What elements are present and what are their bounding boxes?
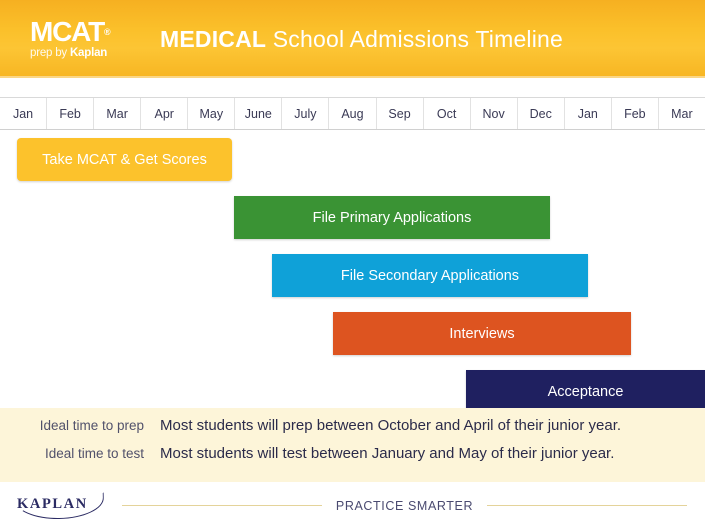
month-cell: Jan	[565, 98, 612, 129]
month-cell: July	[282, 98, 329, 129]
mcat-logo-wordmark: MCAT®	[30, 18, 138, 46]
note-row: Ideal time to prepMost students will pre…	[0, 417, 705, 445]
timeline-bar-label: Take MCAT & Get Scores	[42, 152, 207, 168]
month-axis: JanFebMarAprMayJuneJulyAugSepOctNovDecJa…	[0, 97, 705, 130]
month-cell: Oct	[424, 98, 471, 129]
timeline-bar-label: Acceptance	[548, 384, 624, 400]
notes-panel: Ideal time to prepMost students will pre…	[0, 408, 705, 482]
timeline-bar-label: Interviews	[449, 326, 514, 342]
mcat-logo-subtitle-brand: Kaplan	[70, 47, 107, 59]
timeline-bar: Take MCAT & Get Scores	[17, 138, 232, 181]
note-text: Most students will test between January …	[160, 445, 614, 462]
month-cell: Dec	[518, 98, 565, 129]
timeline-bar-label: File Secondary Applications	[341, 268, 519, 284]
timeline-bar-label: File Primary Applications	[313, 210, 472, 226]
month-cell: Jan	[0, 98, 47, 129]
kaplan-logo-text: KAPLAN	[17, 496, 88, 513]
month-cell: Mar	[659, 98, 705, 129]
mcat-logo-subtitle: prep by Kaplan	[30, 48, 138, 60]
registered-trademark-icon: ®	[104, 28, 111, 37]
footer-rule-left	[122, 505, 322, 506]
month-cell: Sep	[377, 98, 424, 129]
timeline-bar: Interviews	[333, 312, 631, 355]
timeline-bar: File Primary Applications	[234, 196, 550, 239]
month-cell: Apr	[141, 98, 188, 129]
mcat-logo-subtitle-prefix: prep by	[30, 47, 70, 59]
note-label: Ideal time to test	[0, 446, 160, 461]
timeline-chart: Take MCAT & Get ScoresFile Primary Appli…	[0, 130, 705, 408]
month-cell: June	[235, 98, 282, 129]
page-title-strong: MEDICAL	[160, 26, 266, 52]
page-title: MEDICAL School Admissions Timeline	[160, 26, 563, 53]
mcat-logo-text: MCAT	[30, 18, 104, 46]
month-cell: Nov	[471, 98, 518, 129]
note-row: Ideal time to testMost students will tes…	[0, 445, 705, 473]
note-text: Most students will prep between October …	[160, 417, 621, 434]
timeline-bar: File Secondary Applications	[272, 254, 588, 297]
month-cell: Feb	[47, 98, 94, 129]
footer-tagline: PRACTICE SMARTER	[336, 499, 473, 513]
timeline-bar: Acceptance	[466, 370, 705, 413]
kaplan-logo: KAPLAN	[14, 493, 106, 519]
mcat-logo: MCAT® prep by Kaplan	[30, 18, 138, 60]
month-cell: Aug	[329, 98, 376, 129]
month-cell: Mar	[94, 98, 141, 129]
note-label: Ideal time to prep	[0, 418, 160, 433]
footer-rule-right	[487, 505, 687, 506]
month-cell: Feb	[612, 98, 659, 129]
page-footer: KAPLAN PRACTICE SMARTER	[0, 482, 705, 529]
page-header: MCAT® prep by Kaplan MEDICAL School Admi…	[0, 0, 705, 78]
month-cell: May	[188, 98, 235, 129]
page-title-light: School Admissions Timeline	[266, 26, 563, 52]
